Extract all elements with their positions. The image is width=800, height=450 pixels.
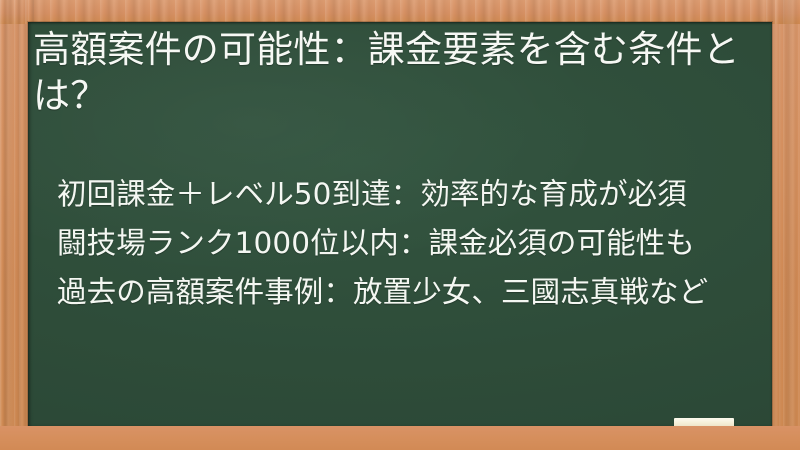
chalk-stick-icon [674, 418, 734, 427]
frame-bottom-ledge [0, 426, 800, 450]
bullet-item-3: 過去の高額案件事例：放置少女、三國志真戦など [57, 268, 757, 317]
frame-top-rail [0, 0, 800, 24]
bullet-item-1: 初回課金＋レベル50到達：効率的な育成が必須 [57, 170, 757, 219]
blackboard-frame: 高額案件の可能性：課金要素を含む条件とは？ 初回課金＋レベル50到達：効率的な育… [0, 0, 800, 450]
chalkboard-surface: 高額案件の可能性：課金要素を含む条件とは？ 初回課金＋レベル50到達：効率的な育… [28, 22, 772, 427]
slide-title: 高額案件の可能性：課金要素を含む条件とは？ [33, 27, 743, 119]
bullet-item-2: 闘技場ランク1000位以内：課金必須の可能性も [57, 219, 757, 268]
bullet-list: 初回課金＋レベル50到達：効率的な育成が必須 闘技場ランク1000位以内：課金必… [57, 170, 757, 317]
